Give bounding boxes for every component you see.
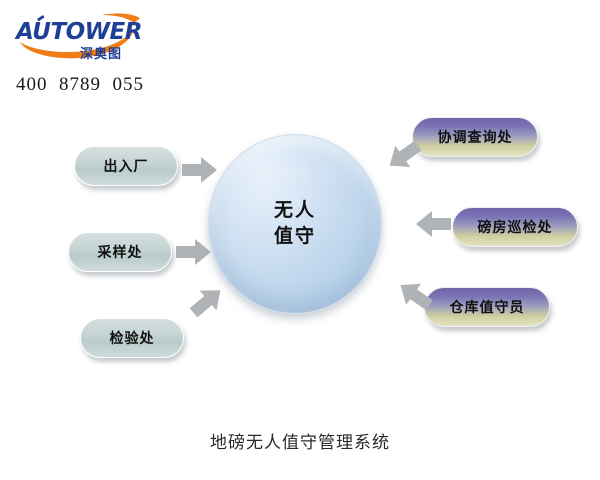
arrow-down-left-icon [383,137,423,173]
svg-text:AUTOWER: AUTOWER [14,19,142,45]
arrow-up-left-icon [395,276,435,312]
logo-icon: AUTOWER 深奥图 [14,12,150,62]
svg-text:深奥图: 深奥图 [80,46,122,62]
brand-header: AUTOWER 深奥图 400 8789 055 [14,12,214,102]
arrow-right-icon [182,156,218,184]
node-warehouse-attendant[interactable]: 仓库值守员 [424,287,550,327]
node-exit-entry-plant[interactable]: 出入厂 [74,146,178,186]
node-label: 出入厂 [104,156,149,176]
node-weighbridge-patrol-office[interactable]: 磅房巡检处 [452,207,578,247]
node-label: 检验处 [110,328,155,348]
center-hub-node: 无人 值守 [208,134,382,314]
contact-phone-number: 400 8789 055 [16,74,144,96]
diagram-caption: 地磅无人值守管理系统 [0,428,600,453]
arrow-up-right-icon [188,284,228,320]
node-label: 采样处 [98,242,143,262]
arrow-right-icon [176,238,212,266]
node-label: 协调查询处 [438,127,513,147]
autower-logo: AUTOWER 深奥图 [14,12,150,62]
diagram-canvas: AUTOWER 深奥图 400 8789 055 无人 值守 出入厂 采样处 检… [0,0,600,480]
node-inspection-office[interactable]: 检验处 [80,318,184,358]
node-coordination-inquiry-office[interactable]: 协调查询处 [412,117,538,157]
node-label: 磅房巡检处 [478,217,553,237]
arrow-left-icon [416,210,452,238]
node-sampling-office[interactable]: 采样处 [68,232,172,272]
node-label: 仓库值守员 [450,297,525,317]
center-hub-label: 无人 值守 [274,198,316,249]
